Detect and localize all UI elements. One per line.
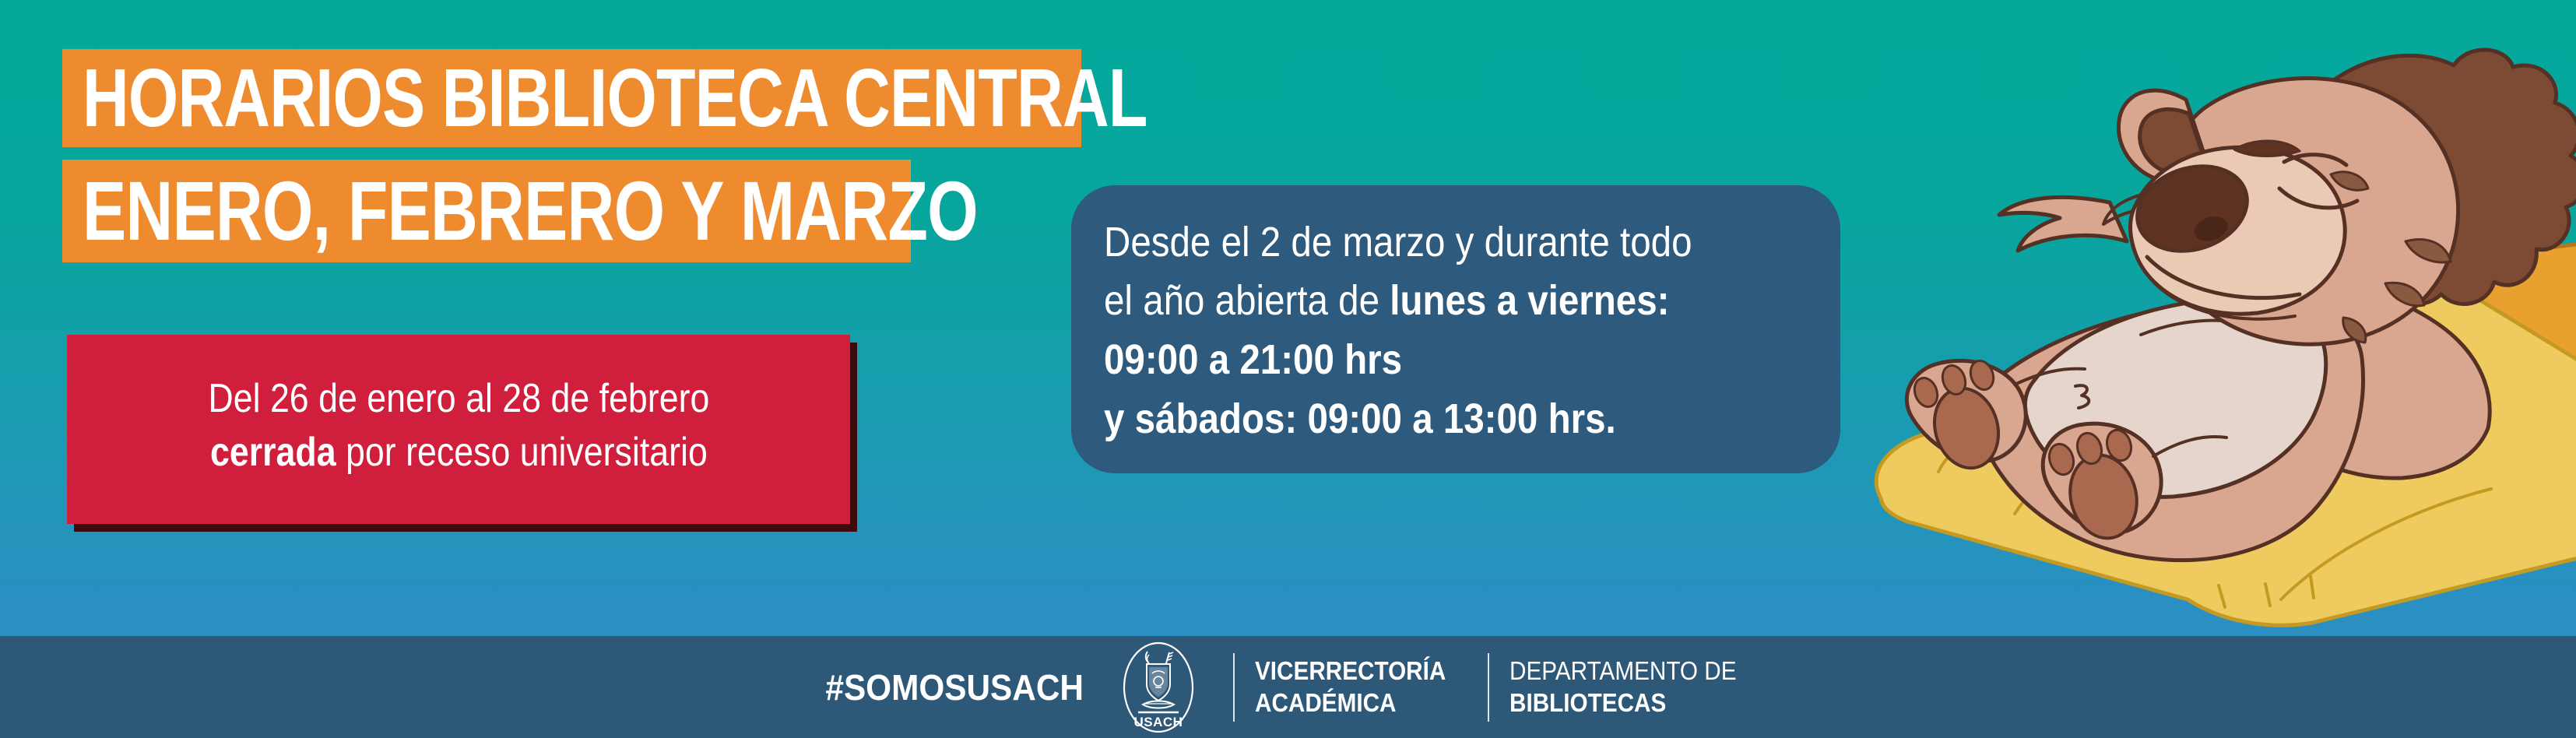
vicerrectoria-academica-block: VICERRECTORÍA ACADÉMICA <box>1255 655 1446 719</box>
hours-line-2: el año abierta de lunes a viernes: <box>1104 272 1724 331</box>
departamento-line1: DEPARTAMENTO DE <box>1509 655 1737 687</box>
hashtag-somosusach: #SOMOSUSACH <box>825 666 1084 708</box>
banner-root: HORARIOS BIBLIOTECA CENTRAL ENERO, FEBRE… <box>0 0 2576 738</box>
departamento-line2: BIBLIOTECAS <box>1509 687 1737 719</box>
svg-text:USACH: USACH <box>1134 715 1183 729</box>
hours-line-2-bold: lunes a viernes: <box>1390 277 1669 324</box>
title-line2-text: ENERO, FEBRERO Y MARZO <box>83 171 978 251</box>
footer-divider-1 <box>1233 653 1235 722</box>
closure-notice-line1: Del 26 de enero al 28 de febrero <box>208 372 709 426</box>
hours-line-4: y sábados: 09:00 a 13:00 hrs. <box>1104 390 1724 449</box>
footer-bar: #SOMOSUSACH <box>0 636 2576 738</box>
footer-content: #SOMOSUSACH <box>814 641 1762 734</box>
hours-line-1: Desde el 2 de marzo y durante todo <box>1104 213 1724 272</box>
title-line1-text: HORARIOS BIBLIOTECA CENTRAL <box>83 59 1147 138</box>
vicerrectoria-line1: VICERRECTORÍA <box>1255 655 1446 687</box>
title-box-line1: HORARIOS BIBLIOTECA CENTRAL <box>62 49 1081 147</box>
closure-notice-rest: por receso universitario <box>336 430 707 475</box>
vicerrectoria-line2: ACADÉMICA <box>1255 687 1446 719</box>
hours-bubble: Desde el 2 de marzo y durante todo el añ… <box>1071 185 1840 473</box>
closure-notice-bold: cerrada <box>210 430 336 475</box>
title-box-line2: ENERO, FEBRERO Y MARZO <box>62 160 911 262</box>
closure-notice-box: Del 26 de enero al 28 de febrero cerrada… <box>67 335 850 524</box>
footer-divider-2 <box>1488 653 1489 722</box>
departamento-bibliotecas-block: DEPARTAMENTO DE BIBLIOTECAS <box>1509 655 1737 719</box>
usach-seal-logo: USACH <box>1121 641 1196 734</box>
sleeping-bear-illustration <box>1814 8 2576 638</box>
closure-notice-line2: cerrada por receso universitario <box>210 426 708 480</box>
hours-line-3: 09:00 a 21:00 hrs <box>1104 331 1724 390</box>
hours-line-2-normal: el año abierta de <box>1104 277 1390 324</box>
